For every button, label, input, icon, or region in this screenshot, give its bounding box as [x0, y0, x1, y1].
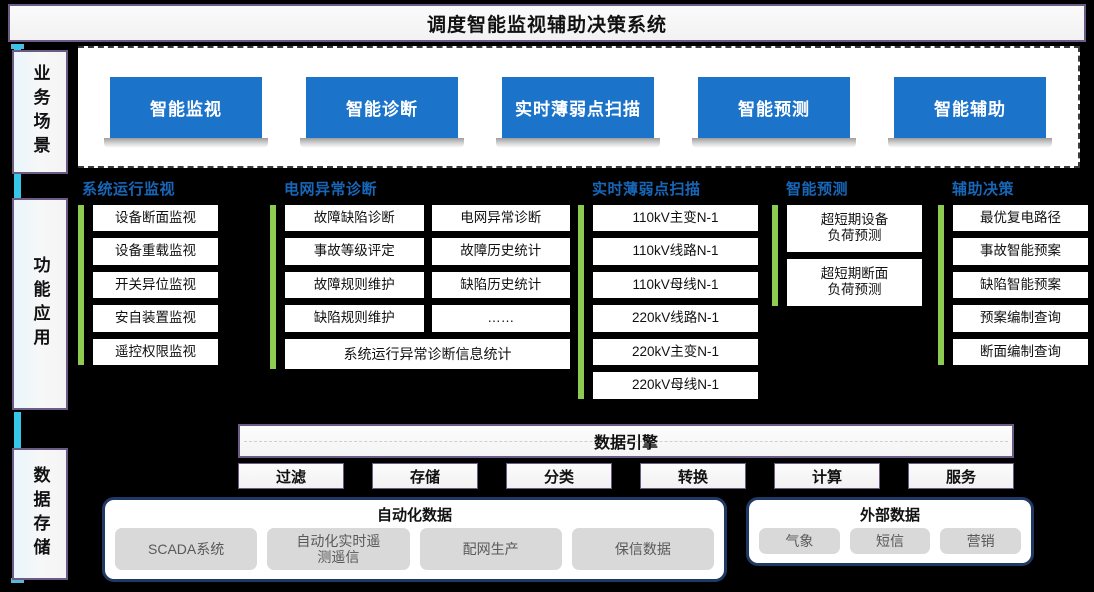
sidebar-item-business-scene[interactable]: 业务场景: [12, 50, 68, 174]
function-item[interactable]: 设备重载监视: [93, 238, 218, 264]
storage-group-external: 外部数据 气象短信营销: [746, 497, 1034, 566]
function-item[interactable]: 220kV线路N-1: [593, 305, 758, 331]
function-item[interactable]: 220kV母线N-1: [593, 372, 758, 398]
function-item-lists: 最优复电路径事故智能预案缺陷智能预案预案编制查询断面编制查询: [944, 205, 1088, 365]
function-item[interactable]: 110kV主变N-1: [593, 205, 758, 231]
function-column-body: 110kV主变N-1110kV线路N-1110kV母线N-1220kV线路N-1…: [578, 205, 758, 399]
function-item-lists: 故障缺陷诊断事故等级评定故障规则维护缺陷规则维护电网异常诊断故障历史统计缺陷历史…: [276, 205, 570, 332]
function-column-2: 电网异常诊断故障缺陷诊断事故等级评定故障规则维护缺陷规则维护电网异常诊断故障历史…: [270, 178, 570, 369]
diagram-root: 调度智能监视辅助决策系统 业务场景 功能应用 数据存储 智能监视智能诊断实时薄弱…: [0, 0, 1094, 592]
function-item[interactable]: 220kV主变N-1: [593, 339, 758, 365]
function-item-list-1: 最优复电路径事故智能预案缺陷智能预案预案编制查询断面编制查询: [953, 205, 1088, 365]
function-item[interactable]: 缺陷历史统计: [432, 272, 571, 298]
function-column-inner: 设备断面监视设备重载监视开关异位监视安自装置监视遥控权限监视: [84, 205, 218, 365]
function-item[interactable]: 故障规则维护: [285, 272, 424, 298]
function-item[interactable]: 110kV线路N-1: [593, 238, 758, 264]
function-column-inner: 故障缺陷诊断事故等级评定故障规则维护缺陷规则维护电网异常诊断故障历史统计缺陷历史…: [276, 205, 570, 369]
function-item[interactable]: 事故智能预案: [953, 238, 1088, 264]
function-column-body: 设备断面监视设备重载监视开关异位监视安自装置监视遥控权限监视: [78, 205, 218, 365]
storage-chip[interactable]: 自动化实时遥测遥信: [267, 528, 409, 570]
cyan-connector-mid-lower: [14, 412, 21, 450]
function-item[interactable]: 设备断面监视: [93, 205, 218, 231]
data-engine-stage-1[interactable]: 过滤: [238, 463, 344, 489]
data-engine-stage-6[interactable]: 服务: [908, 463, 1014, 489]
function-item[interactable]: 超短期断面负荷预测: [787, 259, 922, 306]
sidebar-item-data-storage[interactable]: 数据存储: [12, 448, 68, 580]
function-item[interactable]: 超短期设备负荷预测: [787, 205, 922, 252]
function-item[interactable]: 开关异位监视: [93, 272, 218, 298]
storage-chip[interactable]: 气象: [759, 528, 840, 554]
function-item-list-1: 110kV主变N-1110kV线路N-1110kV母线N-1220kV线路N-1…: [593, 205, 758, 399]
function-item[interactable]: 预案编制查询: [953, 305, 1088, 331]
function-column-4: 智能预测超短期设备负荷预测超短期断面负荷预测: [772, 178, 922, 306]
data-engine-section: 数据引擎 过滤存储分类转换计算服务: [238, 424, 1014, 489]
page-title-bar: 调度智能监视辅助决策系统: [8, 4, 1086, 42]
storage-chip[interactable]: 短信: [850, 528, 931, 554]
data-engine-title: 数据引擎: [586, 429, 666, 453]
storage-chip[interactable]: 营销: [940, 528, 1021, 554]
function-item-list-1: 故障缺陷诊断事故等级评定故障规则维护缺陷规则维护: [285, 205, 424, 332]
storage-group-title: 自动化数据: [115, 504, 714, 525]
page-title: 调度智能监视辅助决策系统: [427, 10, 667, 37]
storage-chip[interactable]: SCADA系统: [115, 528, 257, 570]
sidebar-item-label: 数据存储: [32, 466, 49, 562]
scenario-button-shelf: [888, 138, 1052, 148]
function-column-title: 辅助决策: [938, 178, 1088, 199]
scenario-button-3[interactable]: 实时薄弱点扫描: [502, 77, 654, 138]
function-column-inner: 110kV主变N-1110kV线路N-1110kV母线N-1220kV线路N-1…: [584, 205, 758, 399]
scenario-button-label[interactable]: 智能预测: [698, 77, 850, 138]
function-column-inner: 最优复电路径事故智能预案缺陷智能预案预案编制查询断面编制查询: [944, 205, 1088, 365]
storage-chip[interactable]: 配网生产: [420, 528, 562, 570]
function-column-body: 超短期设备负荷预测超短期断面负荷预测: [772, 205, 922, 306]
scenario-button-label[interactable]: 智能诊断: [306, 77, 458, 138]
data-engine-stage-2[interactable]: 存储: [372, 463, 478, 489]
scenario-button-5[interactable]: 智能辅助: [894, 77, 1046, 138]
function-application-area: 系统运行监视设备断面监视设备重载监视开关异位监视安自装置监视遥控权限监视电网异常…: [78, 178, 1088, 420]
function-item[interactable]: 安自装置监视: [93, 305, 218, 331]
function-column-3: 实时薄弱点扫描110kV主变N-1110kV线路N-1110kV母线N-1220…: [578, 178, 758, 399]
function-item[interactable]: 遥控权限监视: [93, 339, 218, 365]
storage-chip-row: SCADA系统自动化实时遥测遥信配网生产保信数据: [115, 528, 714, 570]
sidebar-item-label: 业务场景: [32, 64, 49, 160]
scenario-button-shelf: [300, 138, 464, 148]
scenario-button-label[interactable]: 智能监视: [110, 77, 262, 138]
sidebar-item-label: 功能应用: [32, 256, 49, 352]
scenario-button-shelf: [496, 138, 660, 148]
function-column-body: 最优复电路径事故智能预案缺陷智能预案预案编制查询断面编制查询: [938, 205, 1088, 365]
storage-chip-row: 气象短信营销: [759, 528, 1021, 554]
function-item[interactable]: ……: [432, 305, 571, 331]
function-item[interactable]: 事故等级评定: [285, 238, 424, 264]
data-engine-stage-3[interactable]: 分类: [506, 463, 612, 489]
function-item[interactable]: 断面编制查询: [953, 339, 1088, 365]
function-item-list-1: 超短期设备负荷预测超短期断面负荷预测: [787, 205, 922, 306]
function-column-title: 智能预测: [772, 178, 922, 199]
scenario-button-2[interactable]: 智能诊断: [306, 77, 458, 138]
function-item-list-1: 设备断面监视设备重载监视开关异位监视安自装置监视遥控权限监视: [93, 205, 218, 365]
function-item-lists: 110kV主变N-1110kV线路N-1110kV母线N-1220kV线路N-1…: [584, 205, 758, 399]
function-item[interactable]: 110kV母线N-1: [593, 272, 758, 298]
data-engine-stage-4[interactable]: 转换: [640, 463, 746, 489]
function-item-lists: 设备断面监视设备重载监视开关异位监视安自装置监视遥控权限监视: [84, 205, 218, 365]
function-column-title: 实时薄弱点扫描: [578, 178, 758, 199]
data-engine-box: 数据引擎: [238, 424, 1014, 458]
scenario-button-shelf: [104, 138, 268, 148]
scenario-button-label[interactable]: 智能辅助: [894, 77, 1046, 138]
function-item[interactable]: 最优复电路径: [953, 205, 1088, 231]
function-column-body: 故障缺陷诊断事故等级评定故障规则维护缺陷规则维护电网异常诊断故障历史统计缺陷历史…: [270, 205, 570, 369]
scenario-button-1[interactable]: 智能监视: [110, 77, 262, 138]
storage-group-automation: 自动化数据 SCADA系统自动化实时遥测遥信配网生产保信数据: [102, 497, 727, 582]
function-column-1: 系统运行监视设备断面监视设备重载监视开关异位监视安自装置监视遥控权限监视: [78, 178, 218, 365]
function-column-title: 电网异常诊断: [270, 178, 570, 199]
data-engine-stage-row: 过滤存储分类转换计算服务: [238, 463, 1014, 489]
function-footer-wrap: 系统运行异常诊断信息统计: [276, 339, 570, 369]
data-engine-stage-5[interactable]: 计算: [774, 463, 880, 489]
function-footer-item[interactable]: 系统运行异常诊断信息统计: [285, 339, 570, 369]
function-item[interactable]: 缺陷规则维护: [285, 305, 424, 331]
scenario-button-label[interactable]: 实时薄弱点扫描: [502, 77, 654, 138]
function-item-lists: 超短期设备负荷预测超短期断面负荷预测: [778, 205, 922, 306]
scenario-button-row: 智能监视智能诊断实时薄弱点扫描智能预测智能辅助: [78, 48, 1078, 166]
function-column-5: 辅助决策最优复电路径事故智能预案缺陷智能预案预案编制查询断面编制查询: [938, 178, 1088, 365]
sidebar-item-function-app[interactable]: 功能应用: [12, 198, 68, 410]
function-column-inner: 超短期设备负荷预测超短期断面负荷预测: [778, 205, 922, 306]
function-item[interactable]: 电网异常诊断: [432, 205, 571, 231]
storage-chip[interactable]: 保信数据: [572, 528, 714, 570]
storage-group-title: 外部数据: [759, 504, 1021, 525]
scenario-button-4[interactable]: 智能预测: [698, 77, 850, 138]
function-item[interactable]: 故障缺陷诊断: [285, 205, 424, 231]
scenario-panel: 智能监视智能诊断实时薄弱点扫描智能预测智能辅助: [78, 46, 1080, 168]
function-item[interactable]: 故障历史统计: [432, 238, 571, 264]
scenario-button-shelf: [692, 138, 856, 148]
function-column-title: 系统运行监视: [78, 178, 218, 199]
function-item[interactable]: 缺陷智能预案: [953, 272, 1088, 298]
function-item-list-2: 电网异常诊断故障历史统计缺陷历史统计……: [432, 205, 571, 332]
